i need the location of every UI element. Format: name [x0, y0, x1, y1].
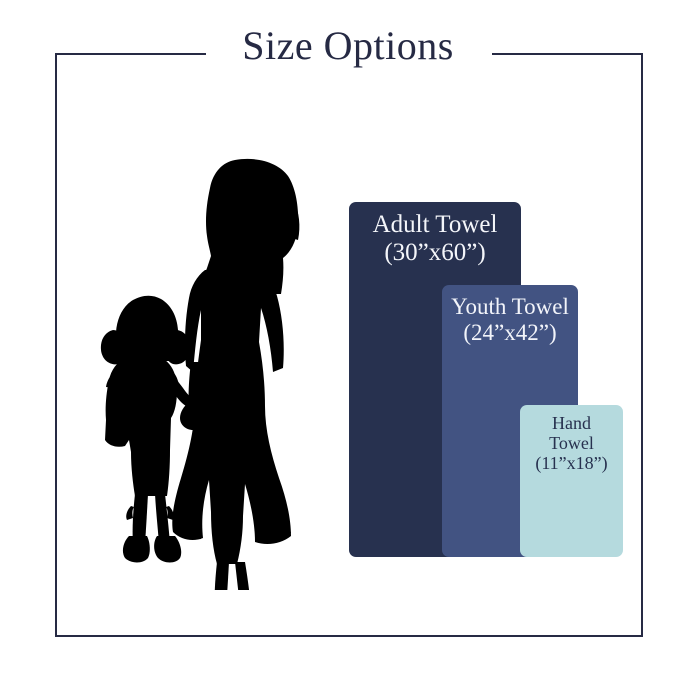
size-options-infographic: Size Options [0, 0, 696, 700]
bar-youth-towel-label-line1: Youth Towel [448, 294, 572, 320]
bar-hand-towel-label: Hand Towel (11”x18”) [520, 413, 623, 473]
bar-hand-towel-label-line3: (11”x18”) [526, 453, 617, 473]
bar-hand-towel-label-line1: Hand [526, 413, 617, 433]
bar-adult-towel-label: Adult Towel (30”x60”) [349, 211, 521, 267]
bar-youth-towel-label-line2: (24”x42”) [448, 320, 572, 346]
page-title: Size Options [242, 26, 454, 66]
bar-hand-towel[interactable]: Hand Towel (11”x18”) [520, 405, 623, 557]
bar-hand-towel-label-line2: Towel [526, 433, 617, 453]
bar-youth-towel-label: Youth Towel (24”x42”) [442, 294, 578, 346]
page-title-container: Size Options [0, 26, 696, 66]
bar-adult-towel-label-line2: (30”x60”) [355, 239, 515, 267]
woman-and-child-silhouette [85, 140, 325, 590]
bar-adult-towel-label-line1: Adult Towel [355, 211, 515, 239]
